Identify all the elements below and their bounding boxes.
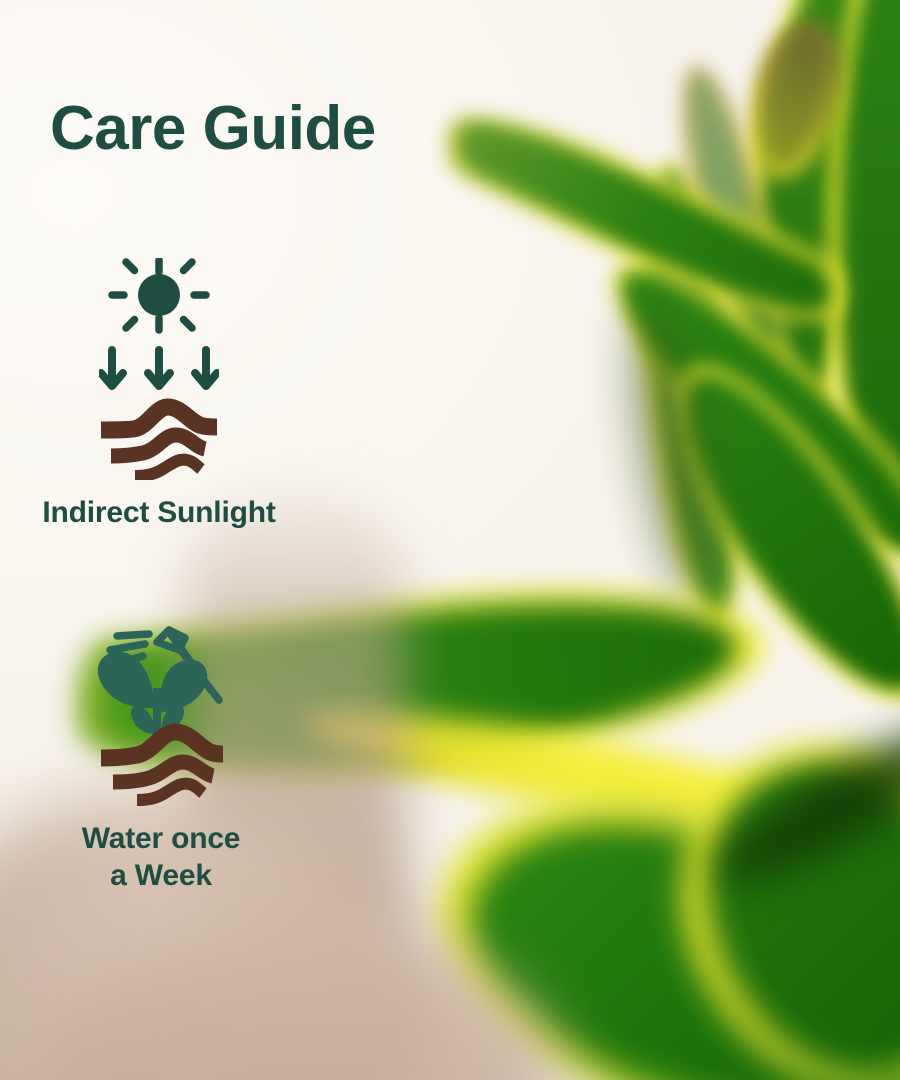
care-item-label-line-2: a Week xyxy=(16,857,306,894)
care-guide-panel: Care Guide xyxy=(0,0,900,1080)
care-item-indirect-sunlight: Indirect Sunlight xyxy=(14,258,304,531)
sun-over-soil-icon xyxy=(99,258,219,480)
content-layer: Care Guide xyxy=(0,0,900,1080)
watering-can-sprout-icon xyxy=(91,616,231,806)
care-item-label-line-1: Water once xyxy=(82,822,241,855)
care-item-label: Indirect Sunlight xyxy=(14,494,304,531)
care-item-label-line-1: Indirect Sunlight xyxy=(42,496,275,529)
care-item-water-once-a-week: Water once a Week xyxy=(16,616,306,894)
page-title: Care Guide xyxy=(50,98,376,160)
care-item-label: Water once a Week xyxy=(16,820,306,894)
